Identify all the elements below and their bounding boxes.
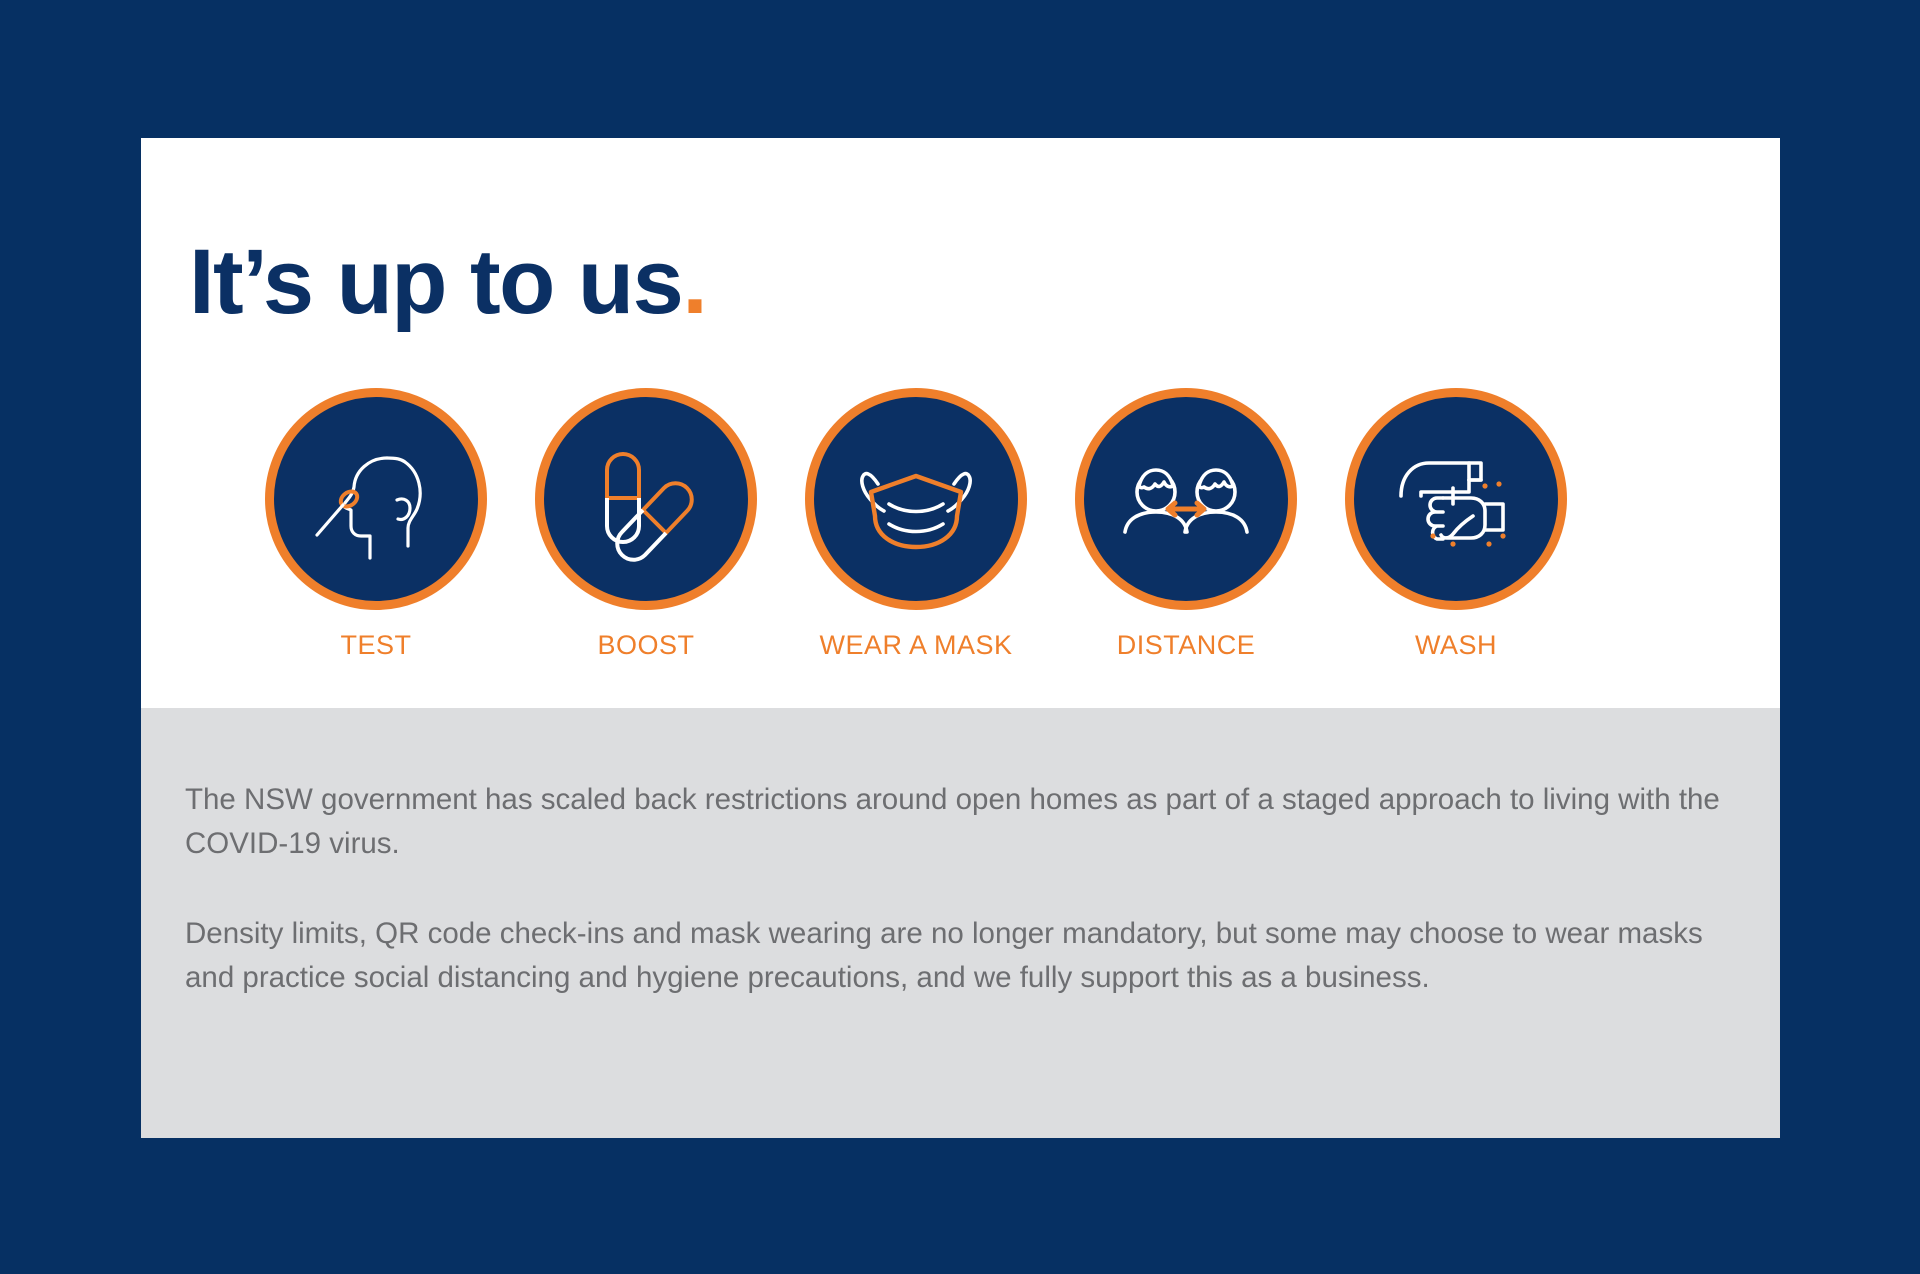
info-paragraph-2: Density limits, QR code check-ins and ma… [185,912,1736,999]
face-mask-icon [805,388,1027,610]
measure-label-boost: BOOST [597,630,694,661]
poster-root: It’s up to us. TEST [0,0,1920,1274]
info-panel: The NSW government has scaled back restr… [141,708,1780,1138]
info-paragraph-1: The NSW government has scaled back restr… [185,778,1736,865]
measure-item-wash[interactable]: WASH [1345,388,1567,661]
header-section: It’s up to us. TEST [141,138,1780,708]
measure-item-boost[interactable]: BOOST [535,388,757,661]
measure-item-distance[interactable]: DISTANCE [1075,388,1297,661]
content-card: It’s up to us. TEST [141,138,1780,1138]
nasal-swab-test-icon [265,388,487,610]
vaccine-capsules-icon [535,388,757,610]
measure-item-test[interactable]: TEST [265,388,487,661]
measure-label-wash: WASH [1415,630,1497,661]
measure-label-distance: DISTANCE [1117,630,1256,661]
hand-washing-tap-icon [1345,388,1567,610]
headline-period: . [682,231,706,333]
social-distance-two-people-icon [1075,388,1297,610]
page-title: It’s up to us. [189,236,706,328]
headline-text: It’s up to us [189,231,682,333]
measure-item-wear-a-mask[interactable]: WEAR A MASK [805,388,1027,661]
measure-label-test: TEST [340,630,411,661]
measures-icon-row: TEST BOOST [141,388,1780,661]
measure-label-wear-a-mask: WEAR A MASK [819,630,1012,661]
